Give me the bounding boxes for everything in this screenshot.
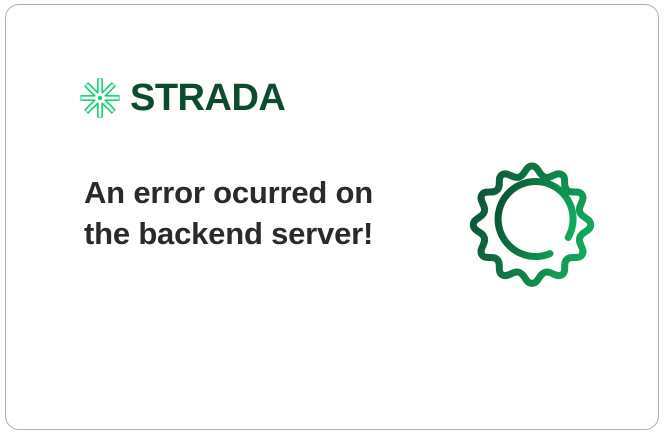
error-message: An error ocurred on the backend server! — [84, 172, 374, 254]
brand-lockup: STRADA — [80, 75, 285, 121]
brand-wordmark: STRADA — [130, 79, 285, 117]
screen: STRADA An error ocurred on the backend s… — [0, 0, 666, 436]
error-card: STRADA An error ocurred on the backend s… — [5, 4, 659, 430]
strada-asterisk-icon — [80, 78, 120, 118]
gear-illustration — [450, 143, 614, 307]
